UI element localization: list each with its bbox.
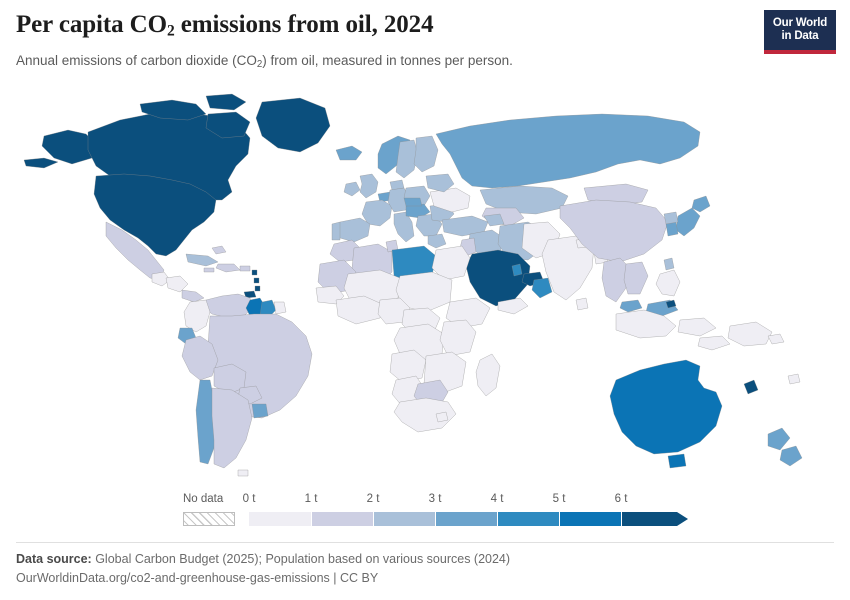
country-cuba[interactable] — [186, 254, 218, 266]
country-czechia-slovakia[interactable] — [404, 198, 422, 206]
country-hispaniola[interactable] — [216, 264, 240, 272]
country-saudi-arabia[interactable] — [466, 250, 530, 306]
country-greece[interactable] — [428, 234, 446, 248]
country-portugal[interactable] — [332, 222, 340, 240]
legend-bin-3[interactable] — [435, 512, 497, 526]
country-north-korea[interactable] — [664, 212, 678, 224]
legend-tick-5: 5 t — [553, 493, 566, 505]
owid-logo[interactable]: Our World in Data — [764, 10, 836, 54]
subtitle-prefix: Annual emissions of carbon dioxide (CO — [16, 53, 257, 68]
legend-bin-5[interactable] — [559, 512, 621, 526]
country-qatar-kuwait[interactable] — [512, 264, 522, 276]
country-sri-lanka[interactable] — [576, 298, 588, 310]
country-vietnam-laos-cambodia[interactable] — [624, 262, 648, 294]
country-indonesia[interactable] — [616, 310, 730, 350]
owid-link-line[interactable]: OurWorldinData.org/co2-and-greenhouse-ga… — [16, 569, 834, 588]
legend-bin-0[interactable] — [249, 512, 311, 526]
country-argentina[interactable] — [212, 388, 252, 468]
country-kenya-uganda-tanzania[interactable] — [440, 320, 476, 356]
country-costa-rica-panama[interactable] — [182, 290, 204, 302]
data-source-line: Data source: Global Carbon Budget (2025)… — [16, 550, 834, 569]
country-papua-new-guinea[interactable] — [728, 322, 772, 346]
chart-footer: Data source: Global Carbon Budget (2025)… — [16, 550, 834, 588]
country-taiwan[interactable] — [664, 258, 674, 270]
legend-tick-6: 6 t — [615, 493, 628, 505]
legend-no-data-label: No data — [183, 493, 223, 505]
country-new-caledonia[interactable] — [744, 380, 758, 394]
country-lesser-antilles[interactable] — [252, 270, 260, 291]
data-source-label: Data source: — [16, 552, 92, 566]
title-prefix: Per capita CO — [16, 11, 167, 38]
country-madagascar[interactable] — [476, 354, 500, 396]
legend-tick-0: 0 t — [243, 493, 256, 505]
country-solomon-islands[interactable] — [768, 334, 784, 344]
legend-tick-3: 3 t — [429, 493, 442, 505]
country-greenland[interactable] — [256, 98, 330, 152]
country-puerto-rico[interactable] — [240, 266, 250, 271]
country-aleutians[interactable] — [24, 158, 58, 168]
country-honduras-nicaragua[interactable] — [166, 276, 188, 292]
legend-tick-1: 1 t — [305, 493, 318, 505]
legend-bin-1[interactable] — [311, 512, 373, 526]
legend-bin-6[interactable] — [621, 512, 677, 526]
legend-open-ended-arrow — [677, 512, 688, 526]
country-tasmania[interactable] — [668, 454, 686, 468]
logo-line-1: Our World — [773, 17, 827, 30]
title-subscript: 2 — [167, 22, 175, 39]
country-uruguay[interactable] — [252, 404, 268, 418]
country-french-guiana[interactable] — [274, 302, 286, 314]
footer-divider — [16, 542, 834, 543]
legend-tick-labels: No data 0 t 1 t 2 t 3 t 4 t 5 t 6 t — [183, 493, 683, 509]
country-colombia[interactable] — [184, 300, 210, 332]
legend-tick-2: 2 t — [367, 493, 380, 505]
map-countries[interactable] — [24, 94, 802, 476]
country-russia[interactable] — [436, 114, 700, 188]
country-lesotho[interactable] — [436, 412, 448, 422]
world-choropleth-map[interactable] — [0, 88, 850, 483]
country-south-korea[interactable] — [666, 222, 678, 236]
country-new-zealand[interactable] — [768, 428, 802, 466]
map-svg[interactable] — [0, 88, 850, 483]
chart-header: Per capita CO2 emissions from oil, 2024 … — [16, 10, 834, 74]
legend-tick-4: 4 t — [491, 493, 504, 505]
country-falklands[interactable] — [238, 470, 248, 476]
country-australia[interactable] — [610, 360, 722, 454]
country-united-kingdom[interactable] — [360, 174, 378, 198]
legend-swatches[interactable] — [183, 512, 683, 527]
country-jamaica[interactable] — [204, 268, 214, 272]
country-iceland[interactable] — [336, 146, 362, 160]
country-finland[interactable] — [414, 136, 438, 172]
page-title: Per capita CO2 emissions from oil, 2024 — [16, 10, 834, 46]
data-source-text: Global Carbon Budget (2025); Population … — [92, 552, 510, 566]
logo-line-2: in Data — [782, 30, 819, 43]
legend-bin-2[interactable] — [373, 512, 435, 526]
country-oman[interactable] — [532, 278, 552, 298]
country-venezuela[interactable] — [204, 294, 252, 318]
country-philippines[interactable] — [656, 270, 680, 296]
country-ireland[interactable] — [344, 182, 360, 196]
legend-no-data-swatch[interactable] — [183, 512, 235, 526]
country-fiji[interactable] — [788, 374, 800, 384]
legend-bin-4[interactable] — [497, 512, 559, 526]
subtitle-suffix: ) from oil, measured in tonnes per perso… — [262, 53, 513, 68]
title-suffix: emissions from oil, 2024 — [175, 11, 434, 38]
country-bahamas[interactable] — [212, 246, 226, 254]
country-japan[interactable] — [676, 196, 710, 236]
map-legend[interactable]: No data 0 t 1 t 2 t 3 t 4 t 5 t 6 t — [183, 493, 683, 535]
page-subtitle: Annual emissions of carbon dioxide (CO2)… — [16, 52, 834, 74]
